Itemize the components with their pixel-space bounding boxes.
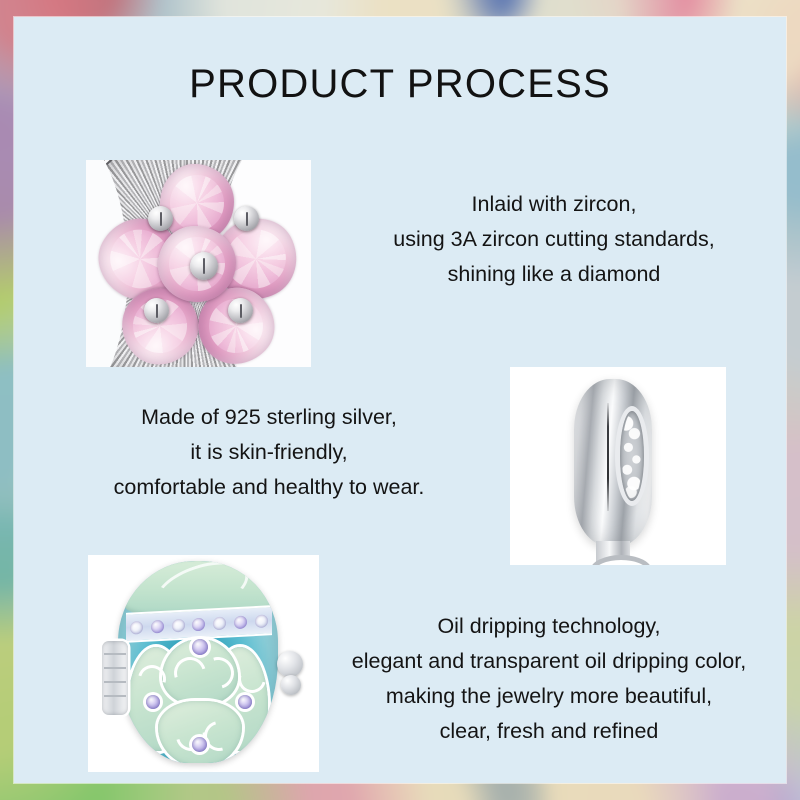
crystal-icon <box>130 620 143 634</box>
crystal-icon <box>192 617 205 631</box>
zircon-line-1: Inlaid with zircon, <box>339 187 769 222</box>
enamel-description: Oil dripping technology, elegant and tra… <box>309 609 789 749</box>
bead-hinge-icon <box>102 641 128 715</box>
pink-zircon-flower-photo <box>86 160 311 367</box>
crystal-icon <box>172 618 185 632</box>
silver-bead-top-left-icon <box>148 206 173 231</box>
enamel-crystal-left-icon <box>146 695 160 709</box>
crystal-icon <box>213 616 226 630</box>
silver-bead-bottom-right-icon <box>228 298 253 323</box>
silver-stopper-bead-photo <box>510 367 726 565</box>
bead-seam-icon <box>607 403 609 511</box>
silver-bead-top-right-icon <box>234 206 259 231</box>
silver-line-1: Made of 925 sterling silver, <box>59 400 479 435</box>
enamel-crystal-bottom-icon <box>192 737 207 752</box>
zircon-line-3: shining like a diamond <box>339 257 769 292</box>
crystal-icon <box>151 619 164 633</box>
enamel-line-1: Oil dripping technology, <box>309 609 789 644</box>
bead-clasp-lower-icon <box>281 675 301 695</box>
enamel-crystal-right-icon <box>238 695 252 709</box>
zircon-description: Inlaid with zircon, using 3A zircon cutt… <box>339 187 769 292</box>
enamel-line-4: clear, fresh and refined <box>309 714 789 749</box>
silver-description: Made of 925 sterling silver, it is skin-… <box>59 400 479 505</box>
enamel-line-2: elegant and transparent oil dripping col… <box>309 644 789 679</box>
infographic-canvas: PRODUCT PROCESS Inlaid with zircon, usin… <box>0 0 800 800</box>
silver-line-2: it is skin-friendly, <box>59 435 479 470</box>
content-panel: PRODUCT PROCESS Inlaid with zircon, usin… <box>14 17 786 783</box>
enamel-crystal-center-icon <box>192 639 208 655</box>
enamel-bead-body-icon <box>118 561 278 763</box>
silver-bead-bottom-left-icon <box>144 298 169 323</box>
crystal-icon <box>255 614 268 628</box>
page-title: PRODUCT PROCESS <box>14 62 786 107</box>
enamel-oil-drip-bead-photo <box>88 555 319 772</box>
crystal-band-icon <box>126 605 272 643</box>
enamel-line-3: making the jewelry more beautiful, <box>309 679 789 714</box>
crystal-icon <box>234 615 247 629</box>
silver-line-3: comfortable and healthy to wear. <box>59 470 479 505</box>
silver-bead-center-icon <box>190 252 218 280</box>
bead-clasp-upper-icon <box>277 651 303 677</box>
zircon-line-2: using 3A zircon cutting standards, <box>339 222 769 257</box>
bead-textured-core-icon <box>620 411 644 501</box>
